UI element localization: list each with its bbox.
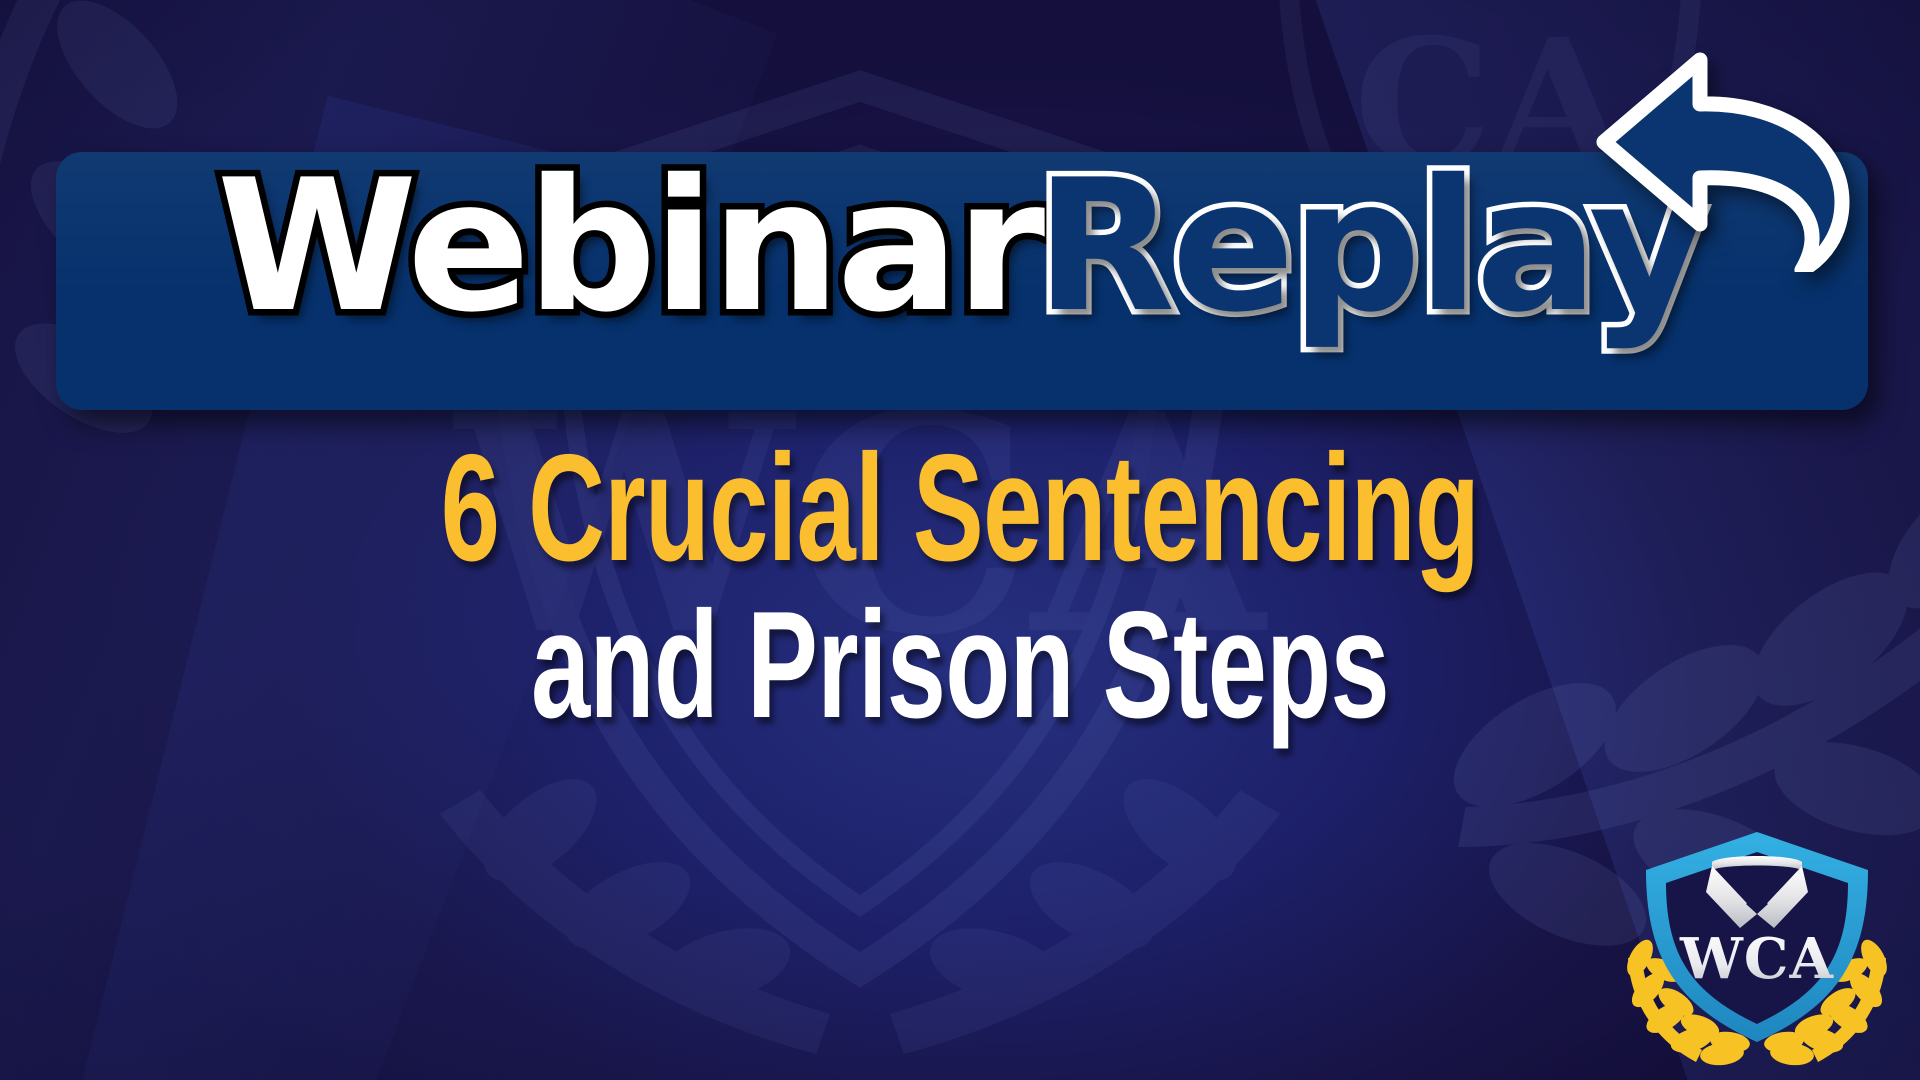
headline-block: 6 Crucial Sentencing and Prison Steps (0, 430, 1920, 743)
headline-line-2: and Prison Steps (288, 587, 1632, 744)
title-card-canvas: WCA (0, 0, 1920, 1080)
svg-text:WCA: WCA (1679, 926, 1834, 992)
wordmark-webinar: Webinar (217, 140, 1042, 352)
wca-logo: WCA (1622, 818, 1892, 1080)
headline-line-1: 6 Crucial Sentencing (288, 430, 1632, 587)
replay-curved-arrow-icon (1596, 52, 1856, 272)
